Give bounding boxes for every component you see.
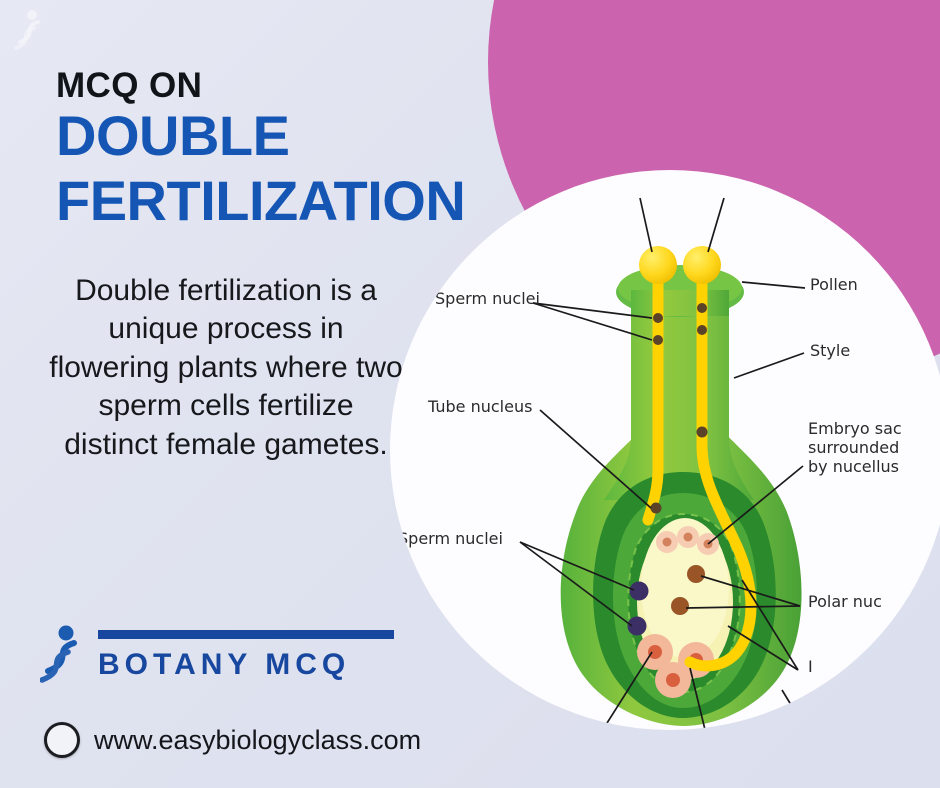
diagram-label-sperm-nuclei-sac: Sperm nuclei (398, 530, 503, 549)
diagram-label-sperm-nuclei-top: Sperm nuclei (435, 290, 540, 309)
dna-figure-watermark-icon (12, 8, 46, 52)
double-fertilization-diagram: Sperm nuclei Tube nucleus Sperm nuclei P… (390, 170, 940, 730)
footer-url-row[interactable]: www.easybiologyclass.com (44, 722, 421, 758)
brand-name: BOTANY MCQ (98, 650, 394, 680)
brand-text-wrap: BOTANY MCQ (98, 630, 394, 680)
diagram-label-polar-nuclei: Polar nuc (808, 593, 882, 612)
style-tissue (604, 290, 754, 500)
sperm-nucleus (697, 303, 707, 313)
poster-canvas: MCQ ON DOUBLE FERTILIZATION Double ferti… (0, 0, 940, 788)
website-url[interactable]: www.easybiologyclass.com (94, 727, 421, 754)
sperm-nucleus (628, 617, 647, 636)
description-paragraph: Double fertilization is a unique process… (48, 272, 404, 464)
polar-nucleus (687, 565, 705, 583)
sperm-nucleus (697, 427, 708, 438)
sperm-nucleus (697, 325, 707, 335)
tube-nucleus-dot (651, 503, 662, 514)
brand-rule (98, 630, 394, 639)
stigma-base (631, 290, 729, 316)
sperm-nucleus (653, 335, 663, 345)
sperm-nucleus (630, 582, 649, 601)
dna-figure-icon (40, 624, 86, 686)
pollen-grain (639, 246, 677, 284)
title-line-1: DOUBLE (56, 107, 526, 164)
brand-lockup: BOTANY MCQ (40, 624, 394, 686)
diagram-label-integuments: I (808, 658, 813, 677)
diagram-label-tube-nucleus: Tube nucleus (428, 398, 532, 417)
kicker-text: MCQ ON (56, 68, 526, 103)
polar-nucleus (671, 597, 689, 615)
sperm-nucleus (653, 313, 663, 323)
diagram-label-style: Style (810, 342, 850, 361)
diagram-label-pollen: Pollen (810, 276, 858, 295)
diagram-label-embryo-sac: Embryo sac surrounded by nucellus (808, 420, 902, 477)
globe-icon (44, 722, 80, 758)
pollen-grain (683, 246, 721, 284)
